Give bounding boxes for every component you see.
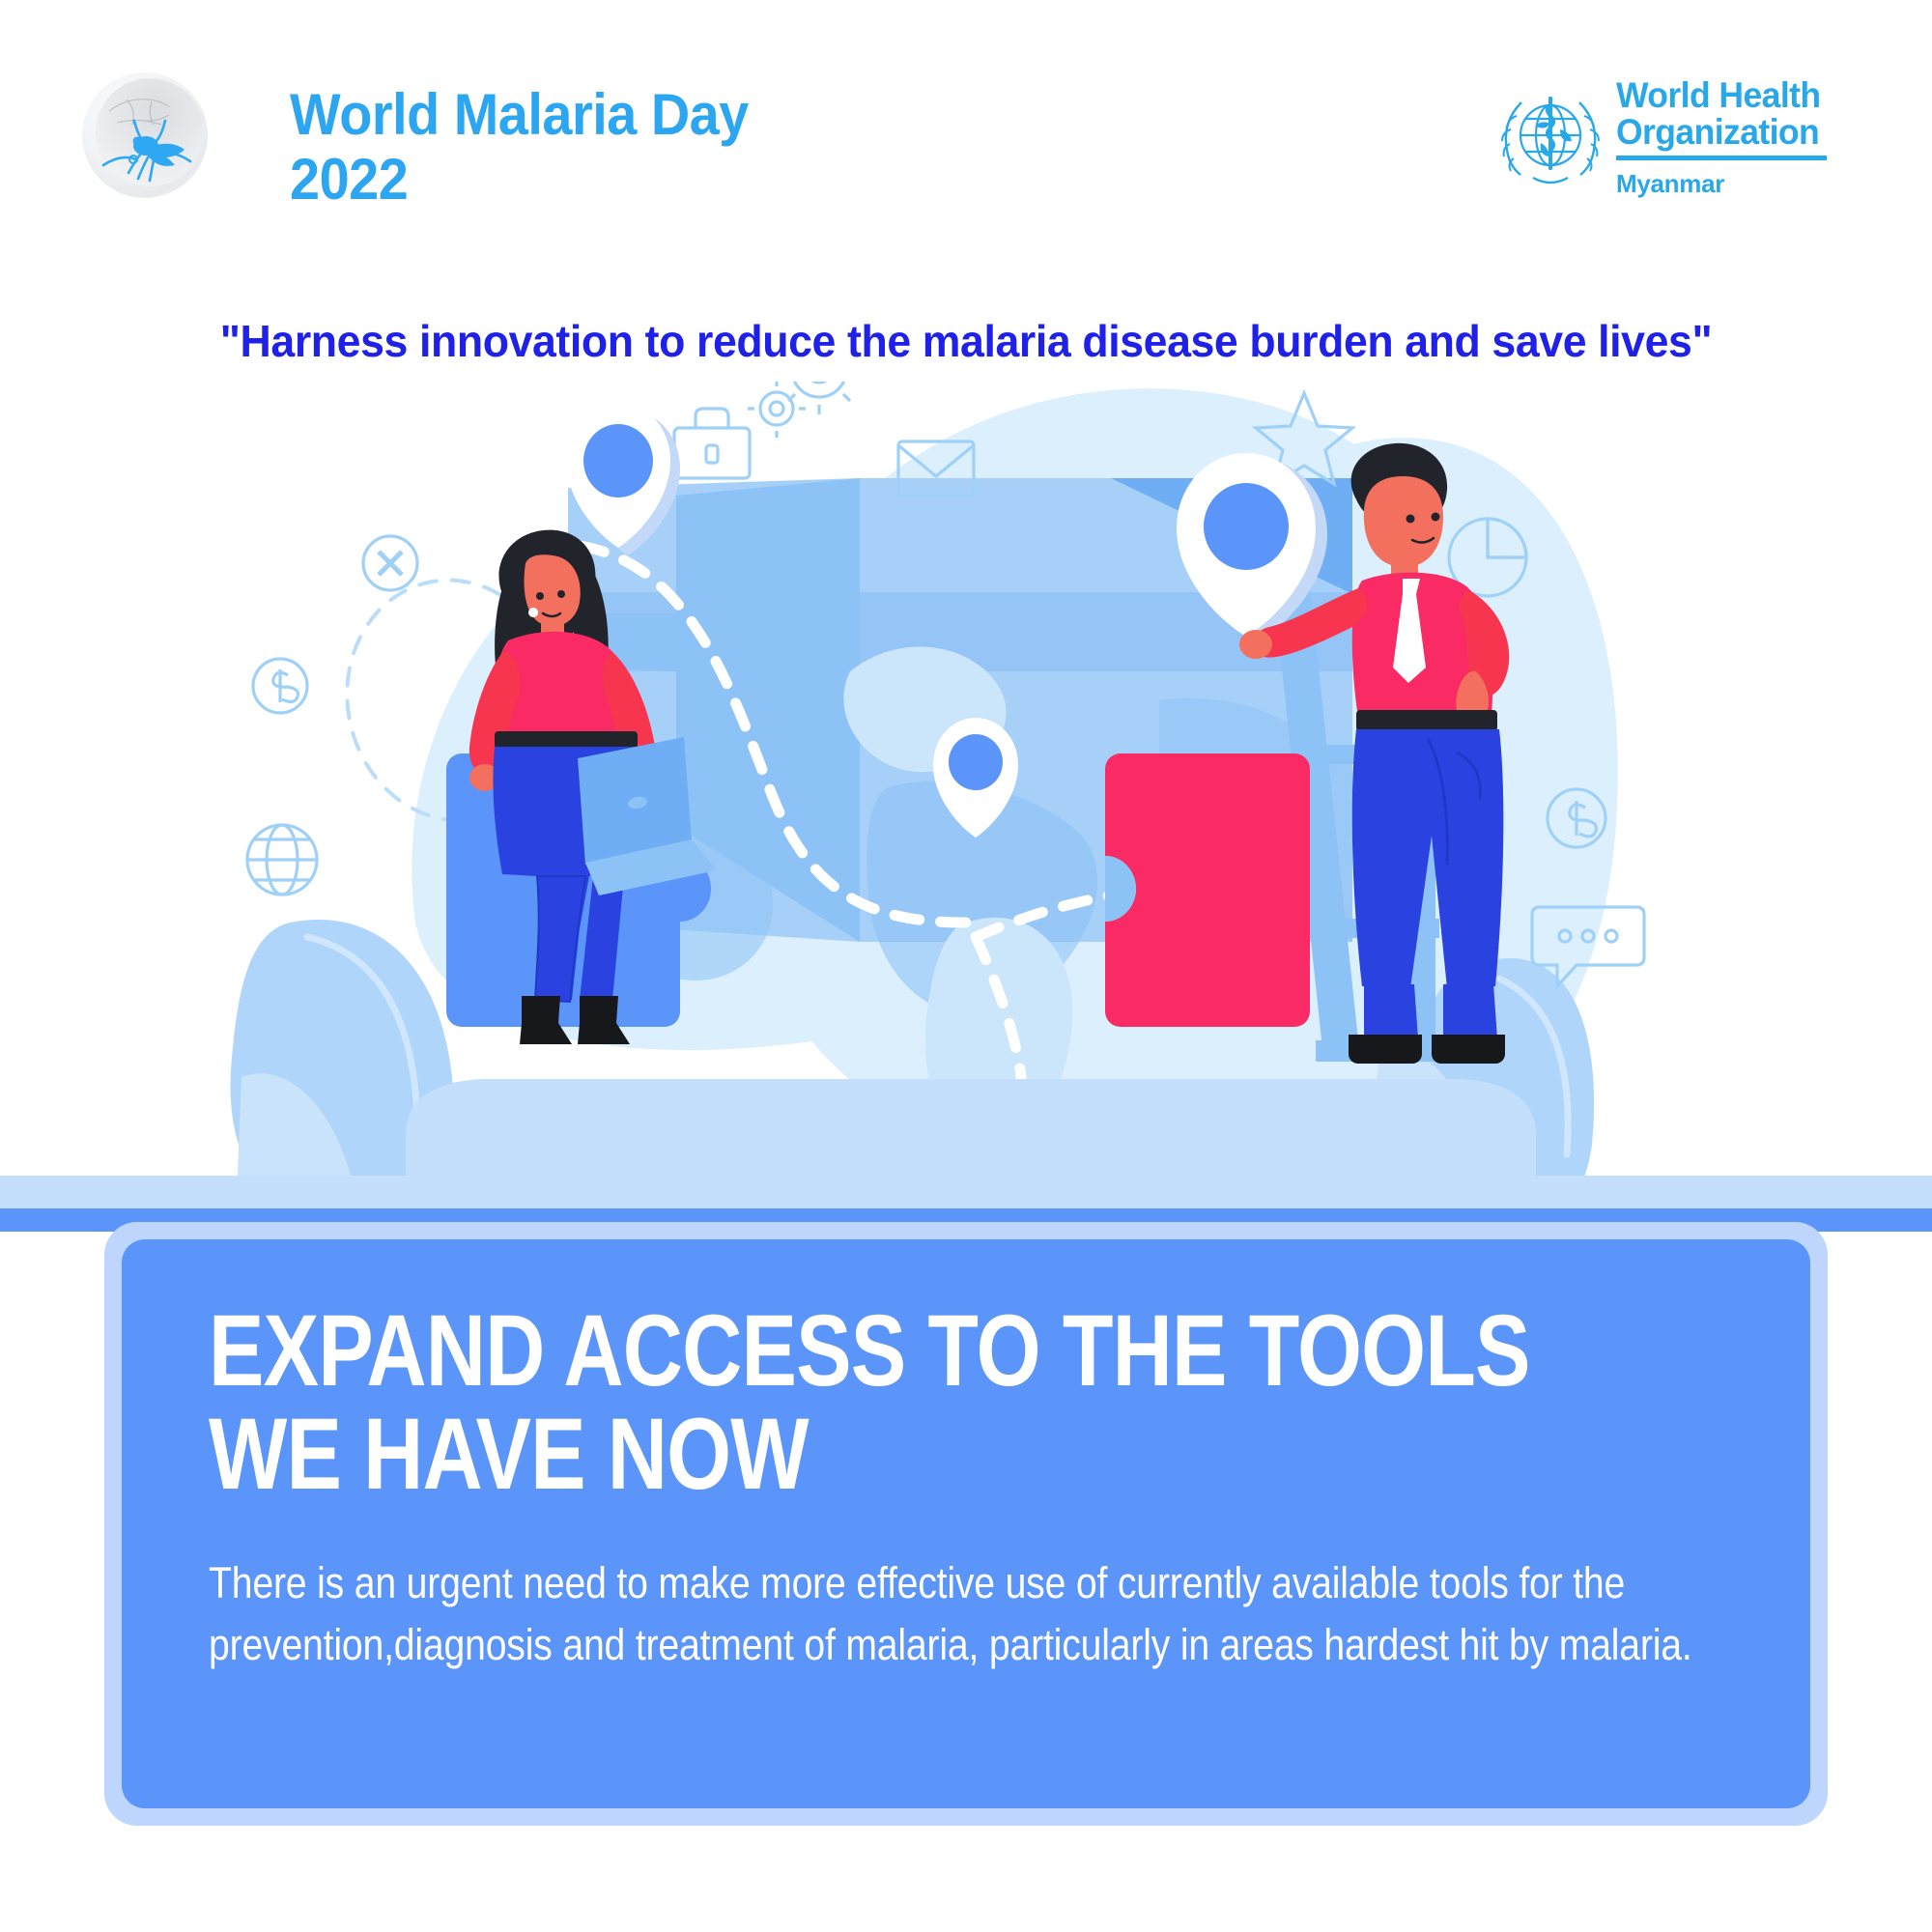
who-wordmark: World Health Organization Myanmar [1616, 77, 1829, 199]
who-country: Myanmar [1616, 169, 1829, 199]
card-heading: EXPAND ACCESS TO THE TOOLS WE HAVE NOW [209, 1299, 1724, 1506]
card-heading-line1: EXPAND ACCESS TO THE TOOLS [209, 1299, 1724, 1403]
who-logo: World Health Organization Myanmar [1492, 77, 1821, 213]
page-title-line1: World Malaria Day [290, 82, 1098, 147]
illustration-svg [0, 382, 1932, 1232]
briefcase-icon [674, 409, 750, 478]
who-divider [1616, 156, 1827, 160]
globe-icon [247, 825, 317, 895]
pink-puzzle-piece [1105, 753, 1310, 1027]
campaign-tagline: "Harness innovation to reduce the malari… [29, 315, 1903, 367]
hero-illustration [0, 382, 1932, 1232]
card-heading-line2: WE HAVE NOW [209, 1403, 1724, 1506]
message-card-body: EXPAND ACCESS TO THE TOOLS WE HAVE NOW T… [122, 1239, 1810, 1808]
who-emblem-icon [1492, 83, 1608, 199]
mosquito-globe-icon [82, 72, 208, 198]
who-name-line1: World Health [1616, 77, 1820, 114]
dollar-circle-icon [253, 659, 307, 713]
page-title: World Malaria Day 2022 [290, 82, 1098, 212]
gears-icon [748, 382, 864, 438]
who-name-line2: Organization [1616, 114, 1820, 151]
message-card: EXPAND ACCESS TO THE TOOLS WE HAVE NOW T… [104, 1222, 1828, 1826]
close-circle-icon [363, 536, 417, 590]
mosquito-glyph [82, 72, 208, 198]
page-header: World Malaria Day 2022 [0, 0, 1932, 241]
page-title-line2: 2022 [290, 147, 1098, 212]
card-body-text: There is an urgent need to make more eff… [209, 1552, 1711, 1676]
